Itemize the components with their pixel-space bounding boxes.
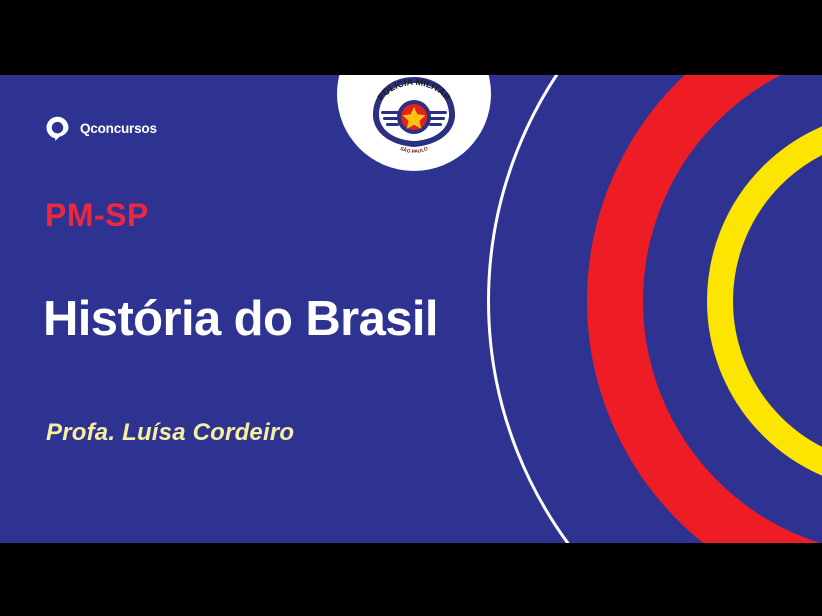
svg-text:SÃO PAULO: SÃO PAULO — [399, 146, 429, 155]
slide-title: História do Brasil — [43, 291, 438, 347]
qconcursos-q-mark-icon — [44, 115, 71, 142]
qconcursos-logo[interactable]: Qconcursos — [44, 115, 157, 142]
slide-stage: POLÍCIA MILITAR SÃO PAULO Qconcursos PM-… — [0, 75, 822, 543]
letterbox-bar-bottom — [0, 543, 822, 616]
policia-militar-emblem-icon: POLÍCIA MILITAR SÃO PAULO — [364, 75, 464, 155]
course-exam-label: PM-SP — [45, 197, 149, 234]
qconcursos-logo-text: Qconcursos — [80, 121, 157, 136]
lecture-title-slide: POLÍCIA MILITAR SÃO PAULO Qconcursos PM-… — [0, 0, 822, 616]
presenter-name: Profa. Luísa Cordeiro — [46, 419, 294, 447]
emblem-white-circle: POLÍCIA MILITAR SÃO PAULO — [337, 75, 491, 171]
letterbox-bar-top — [0, 0, 822, 75]
